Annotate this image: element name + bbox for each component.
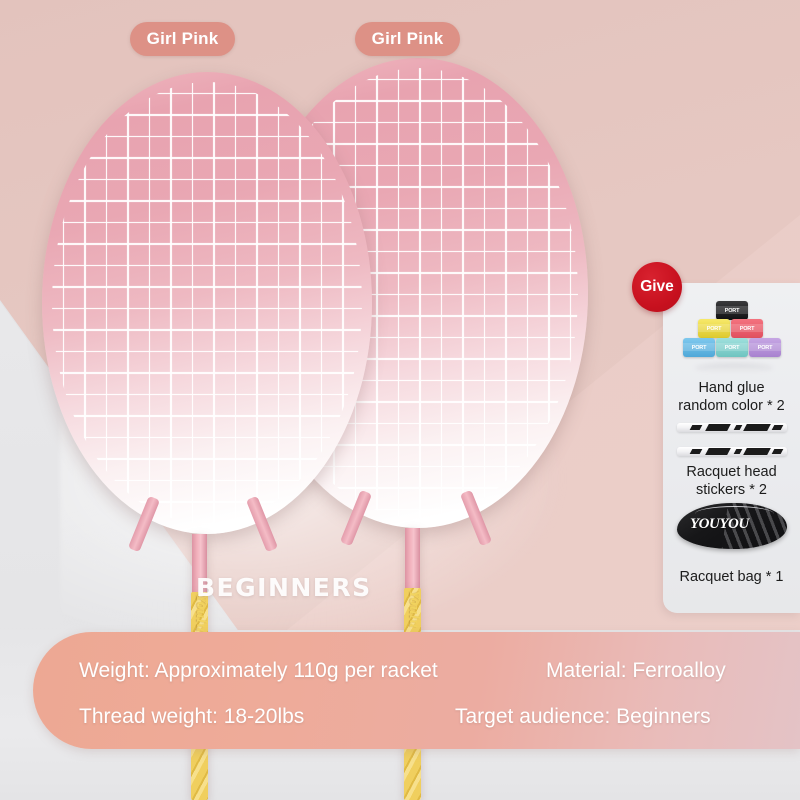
- spec-material: Material: Ferroalloy: [546, 659, 726, 683]
- grip-rolls-reflection: [695, 363, 773, 373]
- spec-target-audience: Target audience: Beginners: [455, 705, 711, 729]
- grip-roll-label: PORT: [692, 345, 706, 351]
- stickers-caption-line1: Racquet head: [663, 463, 800, 481]
- racquet-bag-logo: YOUYOU: [690, 516, 749, 533]
- racket-right-shaft: [405, 528, 420, 592]
- racquet-head-sticker-2: [677, 447, 787, 456]
- racquet-bag-image: YOUYOU: [677, 503, 787, 549]
- give-badge: Give: [632, 262, 682, 312]
- hand-glue-grips-image: PORT PORT PORT PORT PORT PORT: [677, 301, 787, 375]
- pill-label-girl-pink-left: Girl Pink: [130, 22, 235, 56]
- spec-weight: Weight: Approximately 110g per racket: [79, 659, 438, 683]
- grip-roll-label: PORT: [725, 345, 739, 351]
- bag-caption-line1: Racquet bag * 1: [663, 568, 800, 586]
- racket-left-strings: [52, 82, 362, 524]
- spec-banner: Weight: Approximately 110g per racket Ma…: [33, 632, 800, 749]
- grip-roll-purple: PORT: [749, 338, 781, 357]
- stickers-caption-line2: stickers * 2: [663, 481, 800, 499]
- pill-left-text: Girl Pink: [147, 29, 219, 49]
- grip-roll-label: PORT: [707, 326, 721, 332]
- product-image-canvas: Youlu Youlu BEGINNERS Girl Pink Girl Pin…: [0, 0, 800, 800]
- grip-roll-label: PORT: [740, 326, 754, 332]
- hand-glue-caption-line1: Hand glue: [663, 379, 800, 397]
- pill-right-text: Girl Pink: [372, 29, 444, 49]
- racket-right-grip-script: Youlu: [405, 590, 422, 628]
- racket-branding-text: BEGINNERS: [196, 573, 372, 602]
- grip-roll-black: PORT: [716, 301, 748, 320]
- grip-roll-label: PORT: [758, 345, 772, 351]
- grip-roll-label: PORT: [725, 308, 739, 314]
- grip-roll-yellow: PORT: [698, 319, 730, 338]
- racquet-head-sticker-1: [677, 423, 787, 432]
- pill-label-girl-pink-right: Girl Pink: [355, 22, 460, 56]
- grip-roll-cyan: PORT: [716, 338, 748, 357]
- hand-glue-caption-line2: random color * 2: [663, 397, 800, 415]
- grip-roll-pink: PORT: [731, 319, 763, 338]
- grip-roll-blue: PORT: [683, 338, 715, 357]
- gift-panel: PORT PORT PORT PORT PORT PORT Hand glue …: [663, 283, 800, 613]
- spec-thread-weight: Thread weight: 18-20lbs: [79, 705, 304, 729]
- give-badge-text: Give: [640, 278, 674, 296]
- racket-left-string-bed: [52, 82, 362, 524]
